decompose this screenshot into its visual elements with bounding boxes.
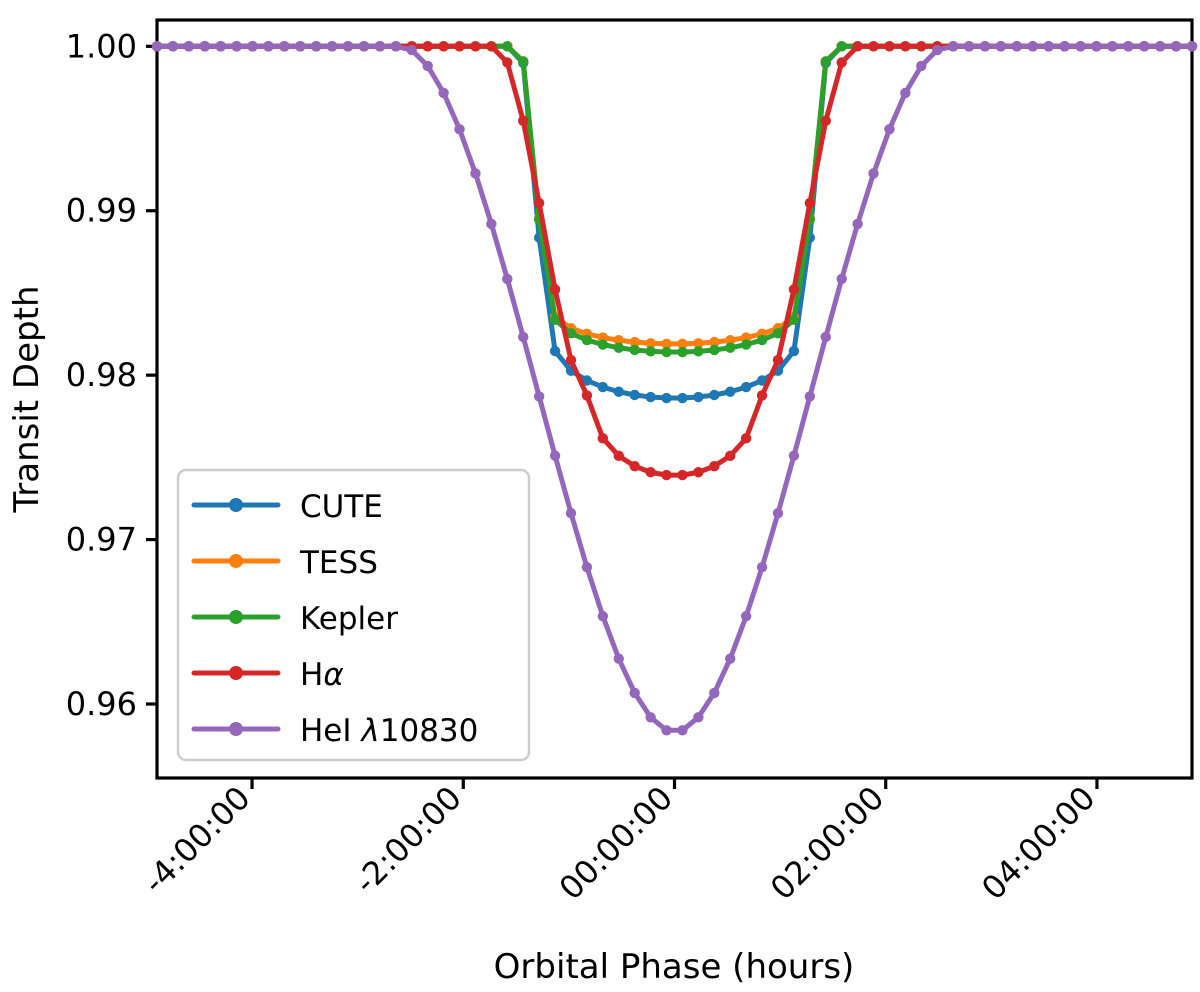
data-point [391, 41, 401, 51]
data-point [948, 41, 958, 51]
data-point [836, 41, 846, 51]
data-point [1043, 41, 1053, 51]
data-point [852, 41, 862, 51]
legend-label-3[interactable]: Hα [300, 657, 344, 693]
data-point [805, 198, 815, 208]
data-point [582, 390, 592, 400]
data-point [231, 41, 241, 51]
y-tick-label-2: 0.98 [66, 356, 137, 394]
series-line [157, 46, 1192, 352]
data-point [295, 41, 305, 51]
data-point [868, 168, 878, 178]
data-point [661, 725, 671, 735]
data-point [773, 355, 783, 365]
x-axis-label: Orbital Phase (hours) [494, 947, 855, 987]
data-point [980, 41, 990, 51]
data-point [741, 339, 751, 349]
y-tick-label-1: 0.99 [66, 192, 137, 230]
data-point [1155, 41, 1165, 51]
data-point [566, 355, 576, 365]
data-point [502, 57, 512, 67]
data-point [868, 41, 878, 51]
data-point [550, 346, 560, 356]
data-point [693, 467, 703, 477]
data-point [327, 41, 337, 51]
data-point [805, 391, 815, 401]
data-point [884, 124, 894, 134]
data-point [1059, 41, 1069, 51]
data-point [932, 45, 942, 55]
data-point [884, 41, 894, 51]
data-point [677, 470, 687, 480]
data-point [534, 391, 544, 401]
data-point [725, 653, 735, 663]
data-point [821, 116, 831, 126]
data-point [518, 116, 528, 126]
data-point [757, 562, 767, 572]
legend-marker-0 [229, 498, 243, 512]
data-point [550, 451, 560, 461]
data-point [263, 41, 273, 51]
transit-light-curve-plot: -4:00:00-2:00:0000:00:0002:00:0004:00:00… [0, 0, 1200, 992]
data-point [614, 451, 624, 461]
data-point [661, 347, 671, 357]
data-point [836, 274, 846, 284]
data-point [677, 725, 687, 735]
data-point [422, 61, 432, 71]
x-tick-label-1: -2:00:00 [347, 779, 469, 901]
data-point [614, 653, 624, 663]
data-point [486, 219, 496, 229]
data-point [645, 712, 655, 722]
legend-label-0[interactable]: CUTE [300, 489, 383, 525]
data-point [996, 41, 1006, 51]
data-point [773, 508, 783, 518]
data-point [1028, 41, 1038, 51]
data-point [725, 387, 735, 397]
data-point [1075, 41, 1085, 51]
series-kepler [152, 41, 1197, 357]
data-point [964, 41, 974, 51]
data-point [645, 346, 655, 356]
data-point [168, 41, 178, 51]
series-tess [152, 41, 1197, 349]
data-point [152, 41, 162, 51]
legend-label-4[interactable]: HeI λ10830 [300, 713, 478, 749]
data-point [1187, 41, 1197, 51]
data-point [709, 345, 719, 355]
x-axis-ticks [252, 778, 1097, 789]
data-point [184, 41, 194, 51]
data-point [582, 562, 592, 572]
y-tick-label-0: 1.00 [66, 27, 137, 65]
legend-marker-4 [229, 722, 243, 736]
data-point [629, 390, 639, 400]
data-point [598, 382, 608, 392]
data-point [741, 611, 751, 621]
y-tick-label-3: 0.97 [66, 521, 137, 559]
legend-label-italic-3: α [323, 657, 343, 693]
data-point [900, 41, 910, 51]
legend-label-italic-4: λ [359, 713, 379, 749]
data-point [852, 219, 862, 229]
data-point [470, 168, 480, 178]
y-axis-ticks [146, 46, 157, 704]
data-point [821, 56, 831, 66]
data-point [1171, 41, 1181, 51]
data-point [407, 45, 417, 55]
data-point [598, 433, 608, 443]
data-point [789, 346, 799, 356]
data-point [677, 393, 687, 403]
data-point [566, 508, 576, 518]
data-point [789, 451, 799, 461]
series-cute [152, 41, 1197, 403]
data-point [1012, 41, 1022, 51]
data-point [661, 470, 671, 480]
data-point [343, 41, 353, 51]
data-point [598, 611, 608, 621]
data-point [359, 41, 369, 51]
data-point [438, 41, 448, 51]
data-point [598, 339, 608, 349]
data-point [629, 345, 639, 355]
data-point [661, 393, 671, 403]
transit-depth-figure: -4:00:00-2:00:0000:00:0002:00:0004:00:00… [0, 0, 1200, 992]
data-point [279, 41, 289, 51]
data-point [645, 392, 655, 402]
data-point [311, 41, 321, 51]
data-point [709, 688, 719, 698]
y-tick-label-4: 0.96 [66, 685, 137, 723]
legend-label-trail-4: 10830 [380, 713, 479, 749]
legend-marker-3 [229, 666, 243, 680]
data-point [741, 433, 751, 443]
data-point [247, 41, 257, 51]
legend-label-2[interactable]: Kepler [300, 601, 398, 637]
data-point [741, 382, 751, 392]
data-point [582, 335, 592, 345]
data-point [900, 88, 910, 98]
data-point [375, 41, 385, 51]
data-point [693, 712, 703, 722]
data-point [470, 41, 480, 51]
data-point [438, 88, 448, 98]
data-point [502, 41, 512, 51]
x-tick-label-0: -4:00:00 [135, 779, 257, 901]
legend-marker-2 [229, 610, 243, 624]
data-point [454, 124, 464, 134]
data-point [677, 347, 687, 357]
data-point [215, 41, 225, 51]
data-point [725, 451, 735, 461]
data-point [629, 461, 639, 471]
data-point [518, 56, 528, 66]
data-point [422, 41, 432, 51]
x-axis-tick-labels: -4:00:00-2:00:0000:00:0002:00:0004:00:00 [135, 779, 1102, 907]
data-point [916, 61, 926, 71]
data-point [614, 343, 624, 353]
series-line [157, 46, 1192, 344]
y-axis-tick-labels: 1.000.990.980.970.96 [66, 27, 137, 723]
legend-label-1[interactable]: TESS [299, 545, 378, 581]
data-point [789, 284, 799, 294]
legend[interactable]: CUTETESSKeplerHαHeI λ10830 [178, 470, 529, 760]
data-point [709, 461, 719, 471]
data-point [693, 346, 703, 356]
data-point [757, 335, 767, 345]
data-point [518, 332, 528, 342]
data-point [821, 332, 831, 342]
data-point [709, 390, 719, 400]
x-tick-label-4: 04:00:00 [974, 779, 1102, 907]
series-halpha [152, 41, 1197, 480]
data-point [725, 343, 735, 353]
data-point [916, 41, 926, 51]
data-point [1123, 41, 1133, 51]
data-point [534, 198, 544, 208]
data-point [645, 467, 655, 477]
data-point [454, 41, 464, 51]
data-point [550, 284, 560, 294]
legend-marker-1 [229, 554, 243, 568]
data-point [629, 688, 639, 698]
data-point [757, 390, 767, 400]
data-point [836, 57, 846, 67]
data-point [200, 41, 210, 51]
data-point [1091, 41, 1101, 51]
x-tick-label-3: 02:00:00 [763, 779, 891, 907]
data-point [502, 274, 512, 284]
data-point [1139, 41, 1149, 51]
y-axis-label: Transit Depth [7, 286, 47, 514]
data-point [1107, 41, 1117, 51]
data-point [614, 387, 624, 397]
data-point [693, 392, 703, 402]
data-point [486, 41, 496, 51]
x-tick-label-2: 00:00:00 [552, 779, 680, 907]
series-line [157, 46, 1192, 475]
